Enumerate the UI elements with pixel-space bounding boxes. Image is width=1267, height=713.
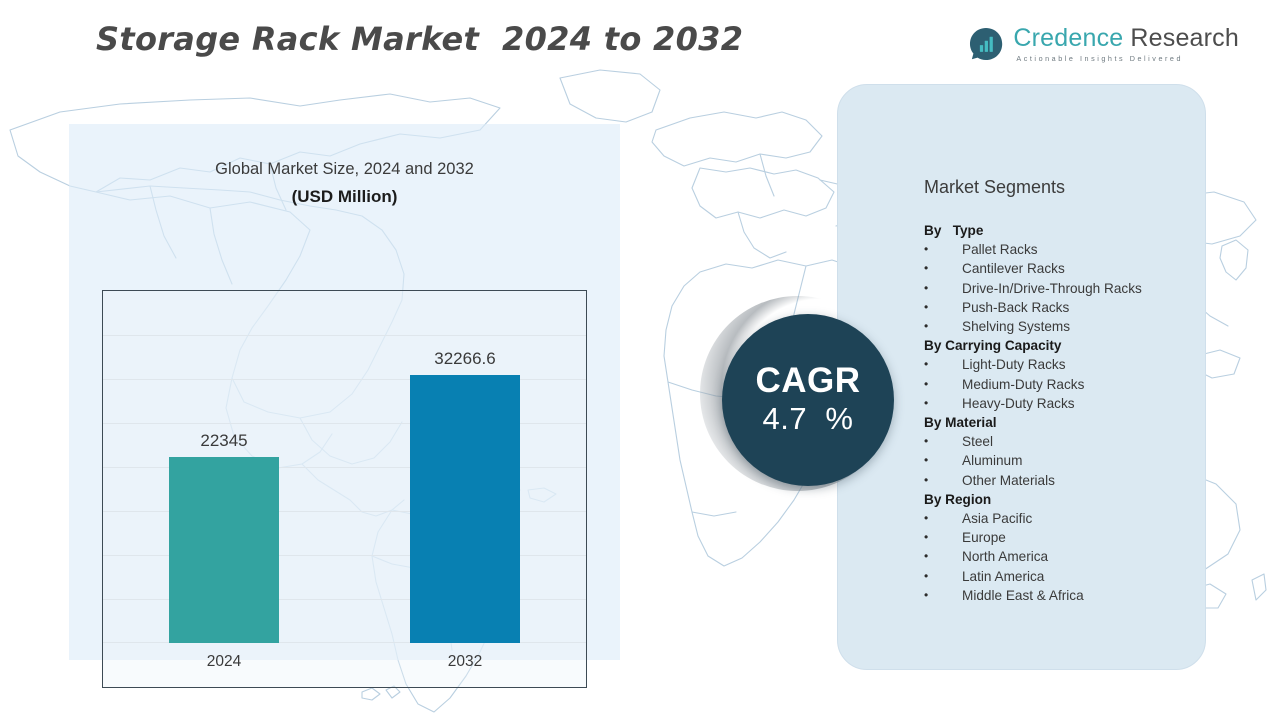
bar-value-label: 32266.6	[434, 349, 495, 369]
bullet-icon: •	[924, 279, 962, 298]
bullet-icon: •	[924, 547, 962, 566]
brand-text: Credence Research Actionable Insights De…	[1013, 26, 1239, 62]
chart-plot-area: 22345202432266.62032	[103, 291, 586, 687]
segment-item[interactable]: •Shelving Systems	[924, 317, 1197, 336]
segments-title: Market Segments	[924, 177, 1065, 198]
bullet-icon: •	[924, 586, 962, 605]
segment-item[interactable]: •Medium-Duty Racks	[924, 375, 1197, 394]
brand-logo: Credence Research Actionable Insights De…	[968, 26, 1239, 62]
cagr-label: CAGR	[755, 363, 860, 400]
segment-item-label: Europe	[962, 528, 1006, 547]
segment-item-label: Pallet Racks	[962, 240, 1038, 259]
bar-category-label: 2024	[207, 653, 241, 671]
segment-item-label: Middle East & Africa	[962, 586, 1084, 605]
brand-name-secondary: Research	[1130, 26, 1239, 51]
segment-item-label: North America	[962, 547, 1048, 566]
segment-item[interactable]: •Other Materials	[924, 471, 1197, 490]
segment-item[interactable]: •Pallet Racks	[924, 240, 1197, 259]
segment-item-label: Medium-Duty Racks	[962, 375, 1084, 394]
segment-item[interactable]: •Light-Duty Racks	[924, 355, 1197, 374]
bar-chart-circle-icon	[968, 26, 1004, 62]
segment-heading: By Region	[924, 490, 1197, 509]
chart-subtitle: (USD Million)	[69, 187, 620, 207]
segment-item[interactable]: •Heavy-Duty Racks	[924, 394, 1197, 413]
bar-2032[interactable]	[410, 375, 520, 643]
segment-heading: By Material	[924, 413, 1197, 432]
cagr-value: 4.7 %	[763, 400, 854, 437]
chart-title: Global Market Size, 2024 and 2032	[69, 160, 620, 179]
bar-2024[interactable]	[169, 457, 279, 643]
segment-item-label: Drive-In/Drive-Through Racks	[962, 279, 1142, 298]
bullet-icon: •	[924, 259, 962, 278]
segment-item-label: Push-Back Racks	[962, 298, 1069, 317]
brand-name-primary: Credence	[1013, 26, 1123, 51]
bullet-icon: •	[924, 240, 962, 259]
bullet-icon: •	[924, 567, 962, 586]
segment-item-label: Shelving Systems	[962, 317, 1070, 336]
cagr-circle: CAGR 4.7 %	[722, 314, 894, 486]
segment-item-label: Light-Duty Racks	[962, 355, 1066, 374]
segment-item-label: Cantilever Racks	[962, 259, 1065, 278]
segment-heading: By Type	[924, 221, 1197, 240]
bar-group: 32266.62032	[410, 375, 520, 643]
segment-item-label: Asia Pacific	[962, 509, 1032, 528]
bar-group: 223452024	[169, 457, 279, 643]
segment-item-label: Other Materials	[962, 471, 1055, 490]
segment-item-label: Aluminum	[962, 451, 1022, 470]
segment-item[interactable]: •Asia Pacific	[924, 509, 1197, 528]
segment-item[interactable]: •Latin America	[924, 567, 1197, 586]
brand-tagline: Actionable Insights Delivered	[1016, 55, 1239, 62]
segment-item[interactable]: •Drive-In/Drive-Through Racks	[924, 279, 1197, 298]
bar-category-label: 2032	[448, 653, 482, 671]
segment-item[interactable]: •North America	[924, 547, 1197, 566]
bar-value-label: 22345	[200, 431, 247, 451]
infographic-page: Storage Rack Market 2024 to 2032 Credenc…	[0, 0, 1267, 713]
segment-heading: By Carrying Capacity	[924, 336, 1197, 355]
segments-list: By Type•Pallet Racks•Cantilever Racks•Dr…	[924, 221, 1197, 605]
segment-item[interactable]: •Middle East & Africa	[924, 586, 1197, 605]
segment-item-label: Heavy-Duty Racks	[962, 394, 1075, 413]
segment-item[interactable]: •Steel	[924, 432, 1197, 451]
market-size-panel: Global Market Size, 2024 and 2032 (USD M…	[69, 124, 620, 660]
segment-item[interactable]: •Europe	[924, 528, 1197, 547]
segment-item[interactable]: •Aluminum	[924, 451, 1197, 470]
cagr-badge: CAGR 4.7 %	[700, 296, 930, 526]
segment-item-label: Steel	[962, 432, 993, 451]
bullet-icon: •	[924, 528, 962, 547]
bar-chart: 22345202432266.62032	[102, 290, 587, 688]
segment-item[interactable]: •Push-Back Racks	[924, 298, 1197, 317]
page-title: Storage Rack Market 2024 to 2032	[96, 20, 743, 58]
segment-item-label: Latin America	[962, 567, 1044, 586]
segment-item[interactable]: •Cantilever Racks	[924, 259, 1197, 278]
